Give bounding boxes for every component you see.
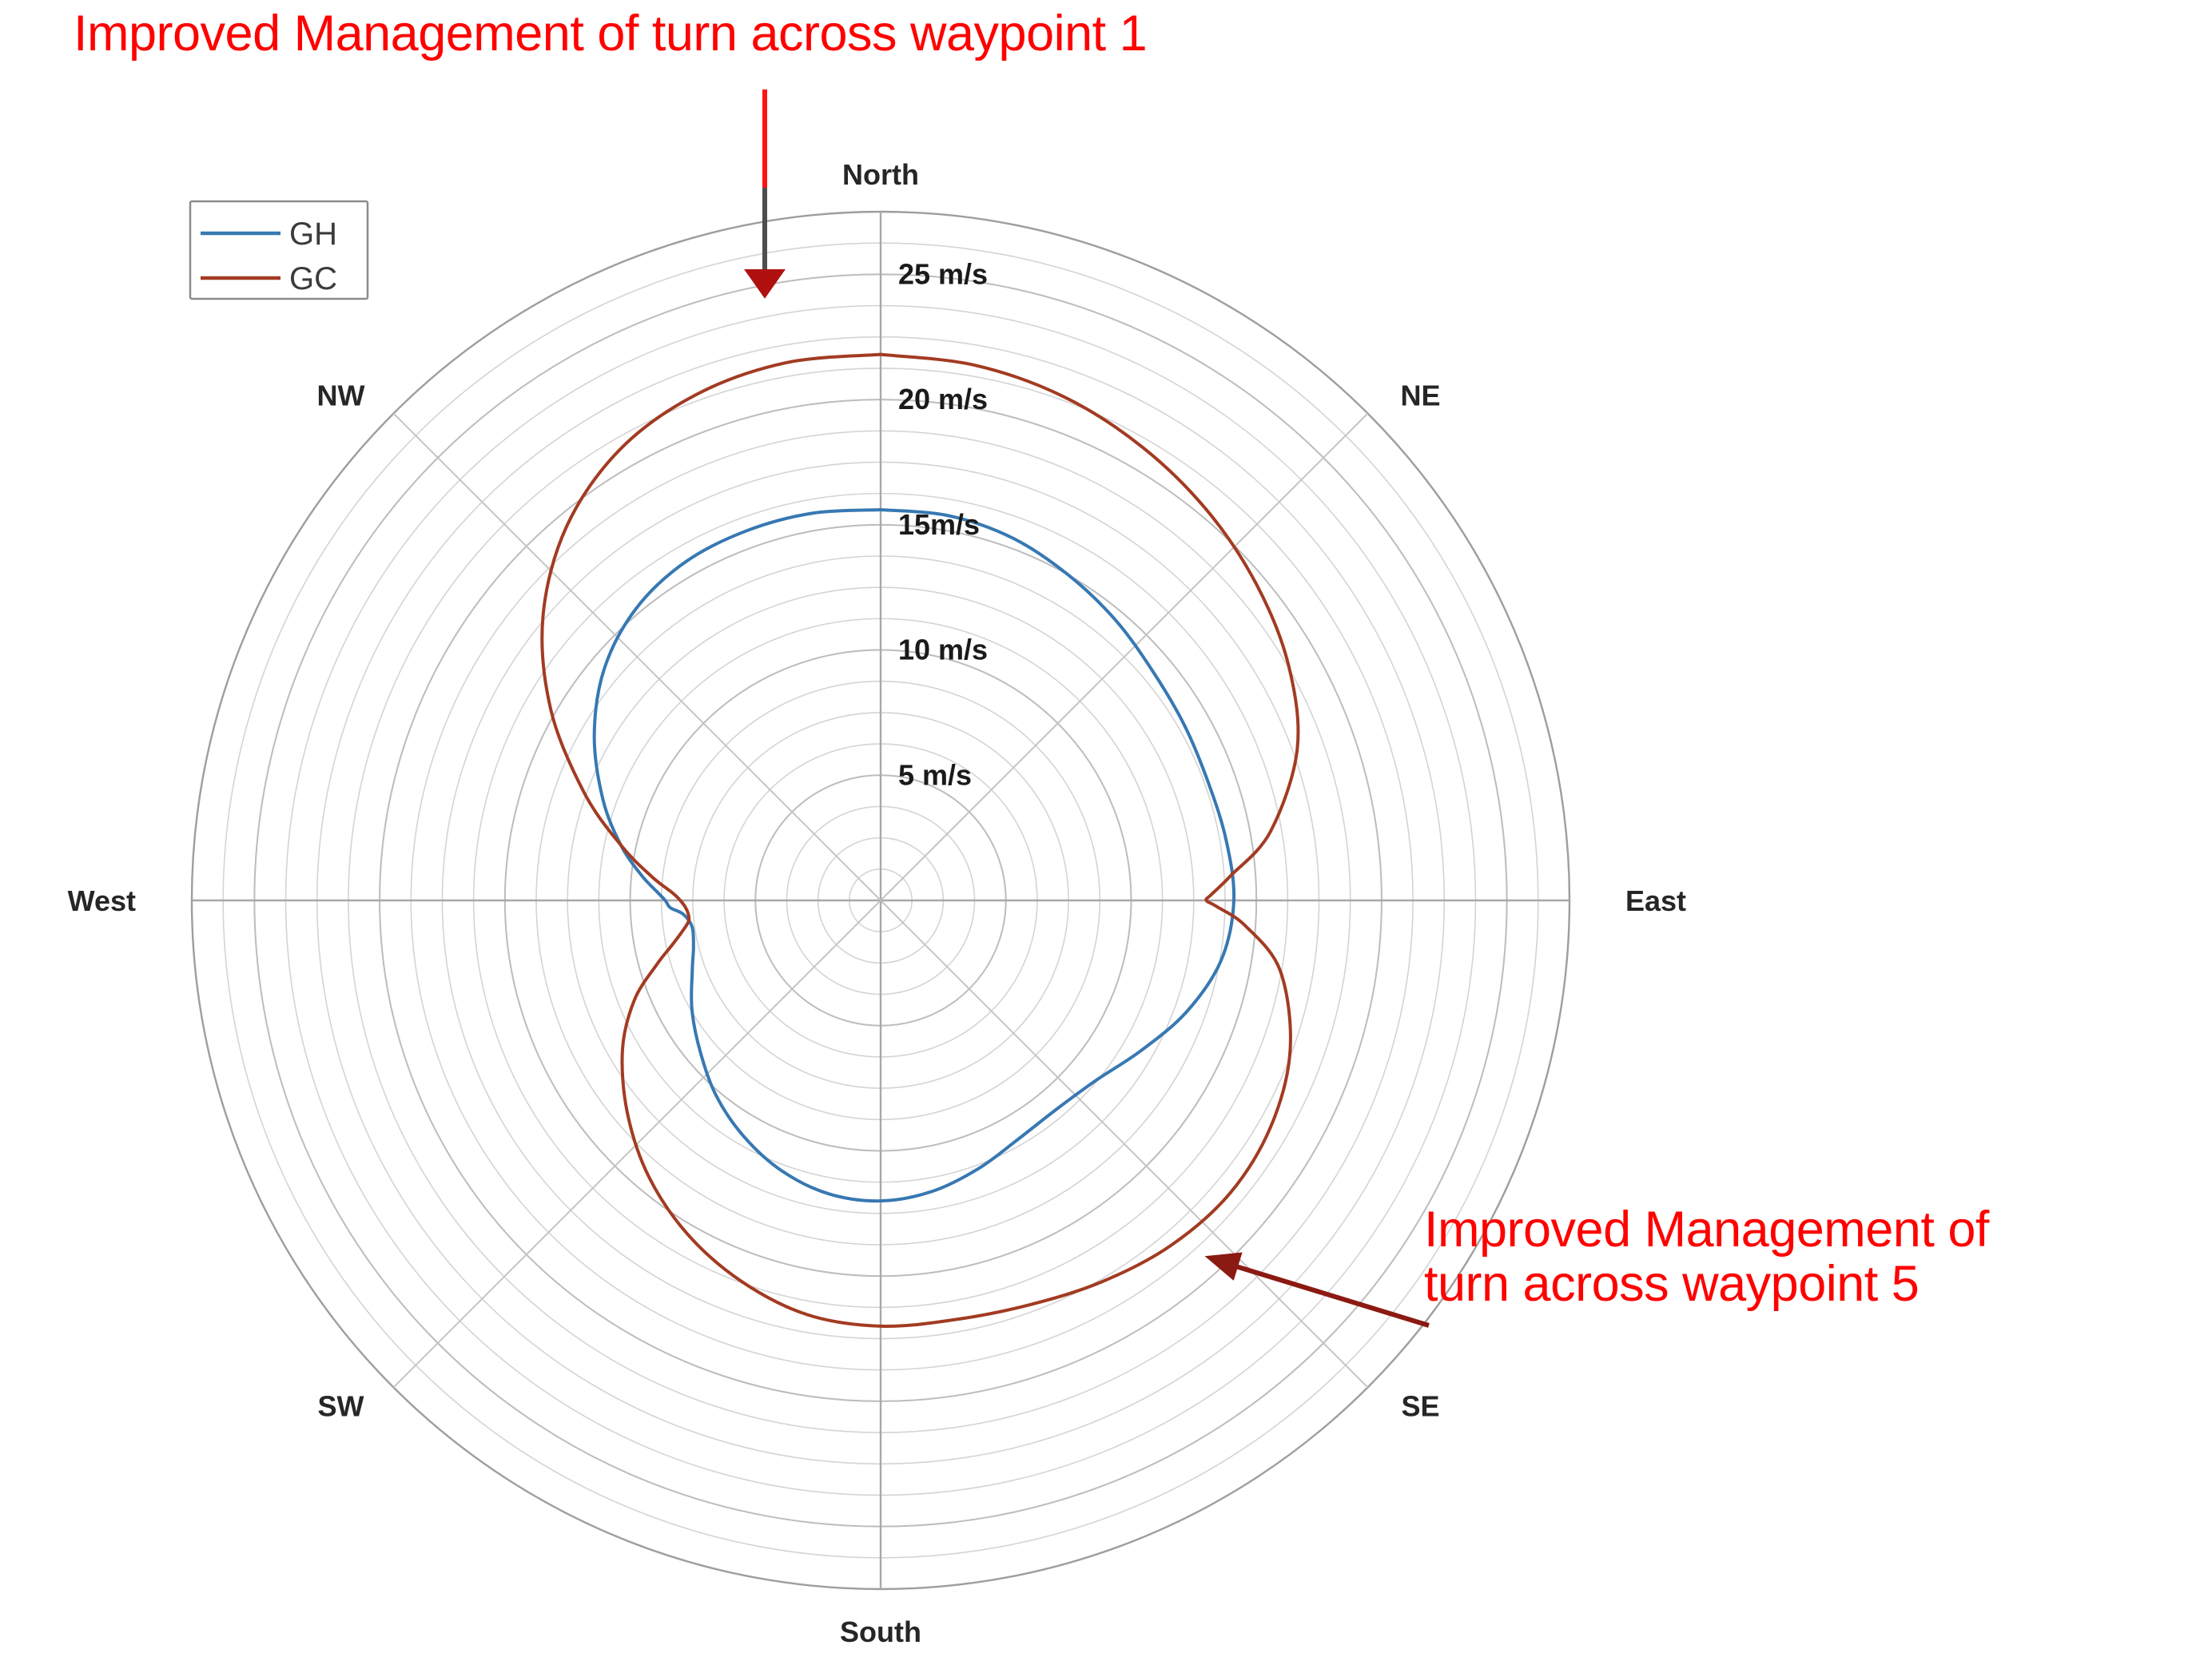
radial-tick-label-20: 20 m/s: [898, 383, 988, 415]
legend-label-gh[interactable]: GH: [289, 217, 337, 252]
legend-label-gc[interactable]: GC: [289, 261, 337, 296]
annotation-waypoint-5-line2: turn across waypoint 5: [1424, 1257, 1989, 1311]
annotation-waypoint-5-text: Improved Management ofturn across waypoi…: [1424, 1202, 1989, 1311]
radial-tick-label-5: 5 m/s: [898, 758, 972, 791]
polar-spokes: [192, 212, 1569, 1589]
radial-tick-label-15: 15m/s: [898, 508, 980, 541]
direction-label-west: West: [68, 884, 136, 917]
direction-label-ne: NE: [1401, 379, 1441, 411]
legend-box: [190, 201, 368, 299]
annotation-waypoint-5-line1: Improved Management of: [1424, 1202, 1989, 1258]
polar-chart-container: 5 m/s10 m/s15m/s20 m/s25 m/s NorthNEEast…: [0, 0, 2212, 1661]
polar-wind-rose-svg: 5 m/s10 m/s15m/s20 m/s25 m/s NorthNEEast…: [0, 0, 2212, 1661]
radial-tick-label-25: 25 m/s: [898, 257, 988, 290]
direction-label-east: East: [1625, 884, 1686, 917]
annotation-waypoint-1-text: Improved Management of turn across waypo…: [74, 6, 1147, 61]
direction-label-sw: SW: [317, 1390, 364, 1423]
direction-label-se: SE: [1402, 1390, 1440, 1423]
direction-label-nw: NW: [316, 379, 364, 411]
direction-label-north: North: [842, 158, 919, 191]
chart-legend[interactable]: GHGC: [190, 201, 368, 299]
direction-label-south: South: [840, 1615, 921, 1648]
radial-tick-label-10: 10 m/s: [898, 634, 988, 666]
